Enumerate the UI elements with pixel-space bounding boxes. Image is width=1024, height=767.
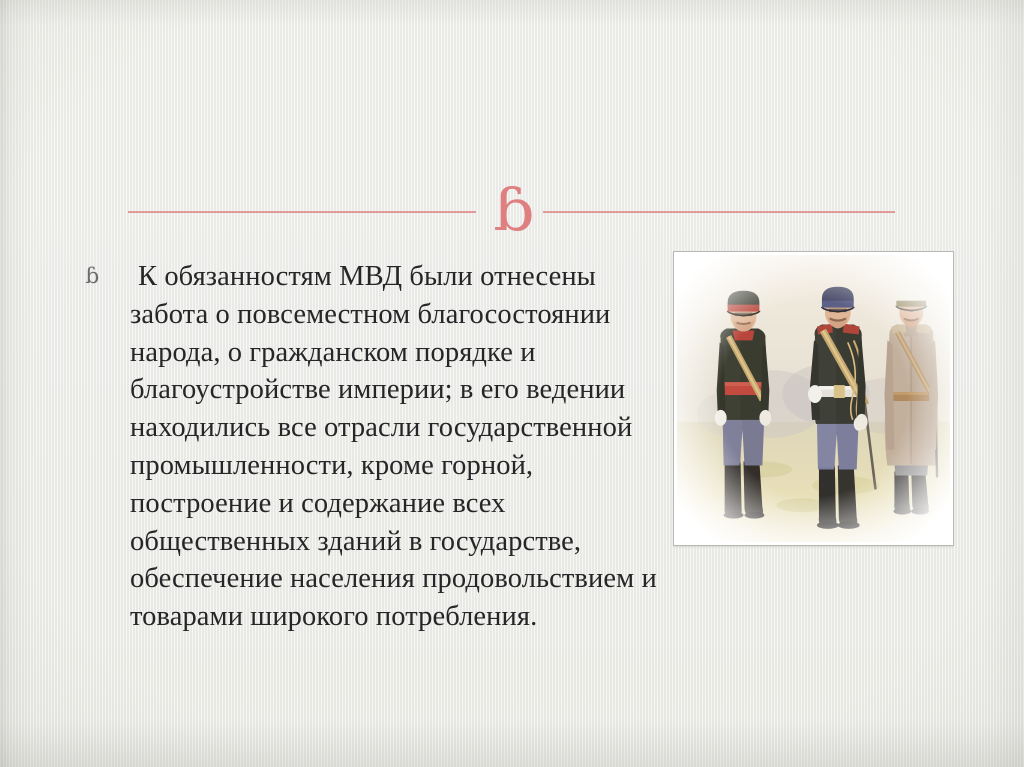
picture-frame [673, 251, 954, 546]
floral-flourish-ornament-icon: ɓ [446, 180, 580, 240]
header-ornament: ɓ [128, 184, 895, 244]
body-paragraph: К обязанностям МВД были отнесены забота … [86, 258, 668, 636]
presentation-slide: ɓ ɓ К обязанностям МВД были отнесены заб… [0, 0, 1024, 767]
body-text-block: ɓ К обязанностям МВД были отнесены забот… [86, 258, 668, 636]
header-rule-right [543, 211, 895, 213]
officers-illustration-svg [677, 255, 950, 542]
officers-illustration [677, 255, 950, 542]
floral-heart-bullet-icon: ɓ [85, 266, 117, 287]
header-rule-left [128, 211, 476, 213]
